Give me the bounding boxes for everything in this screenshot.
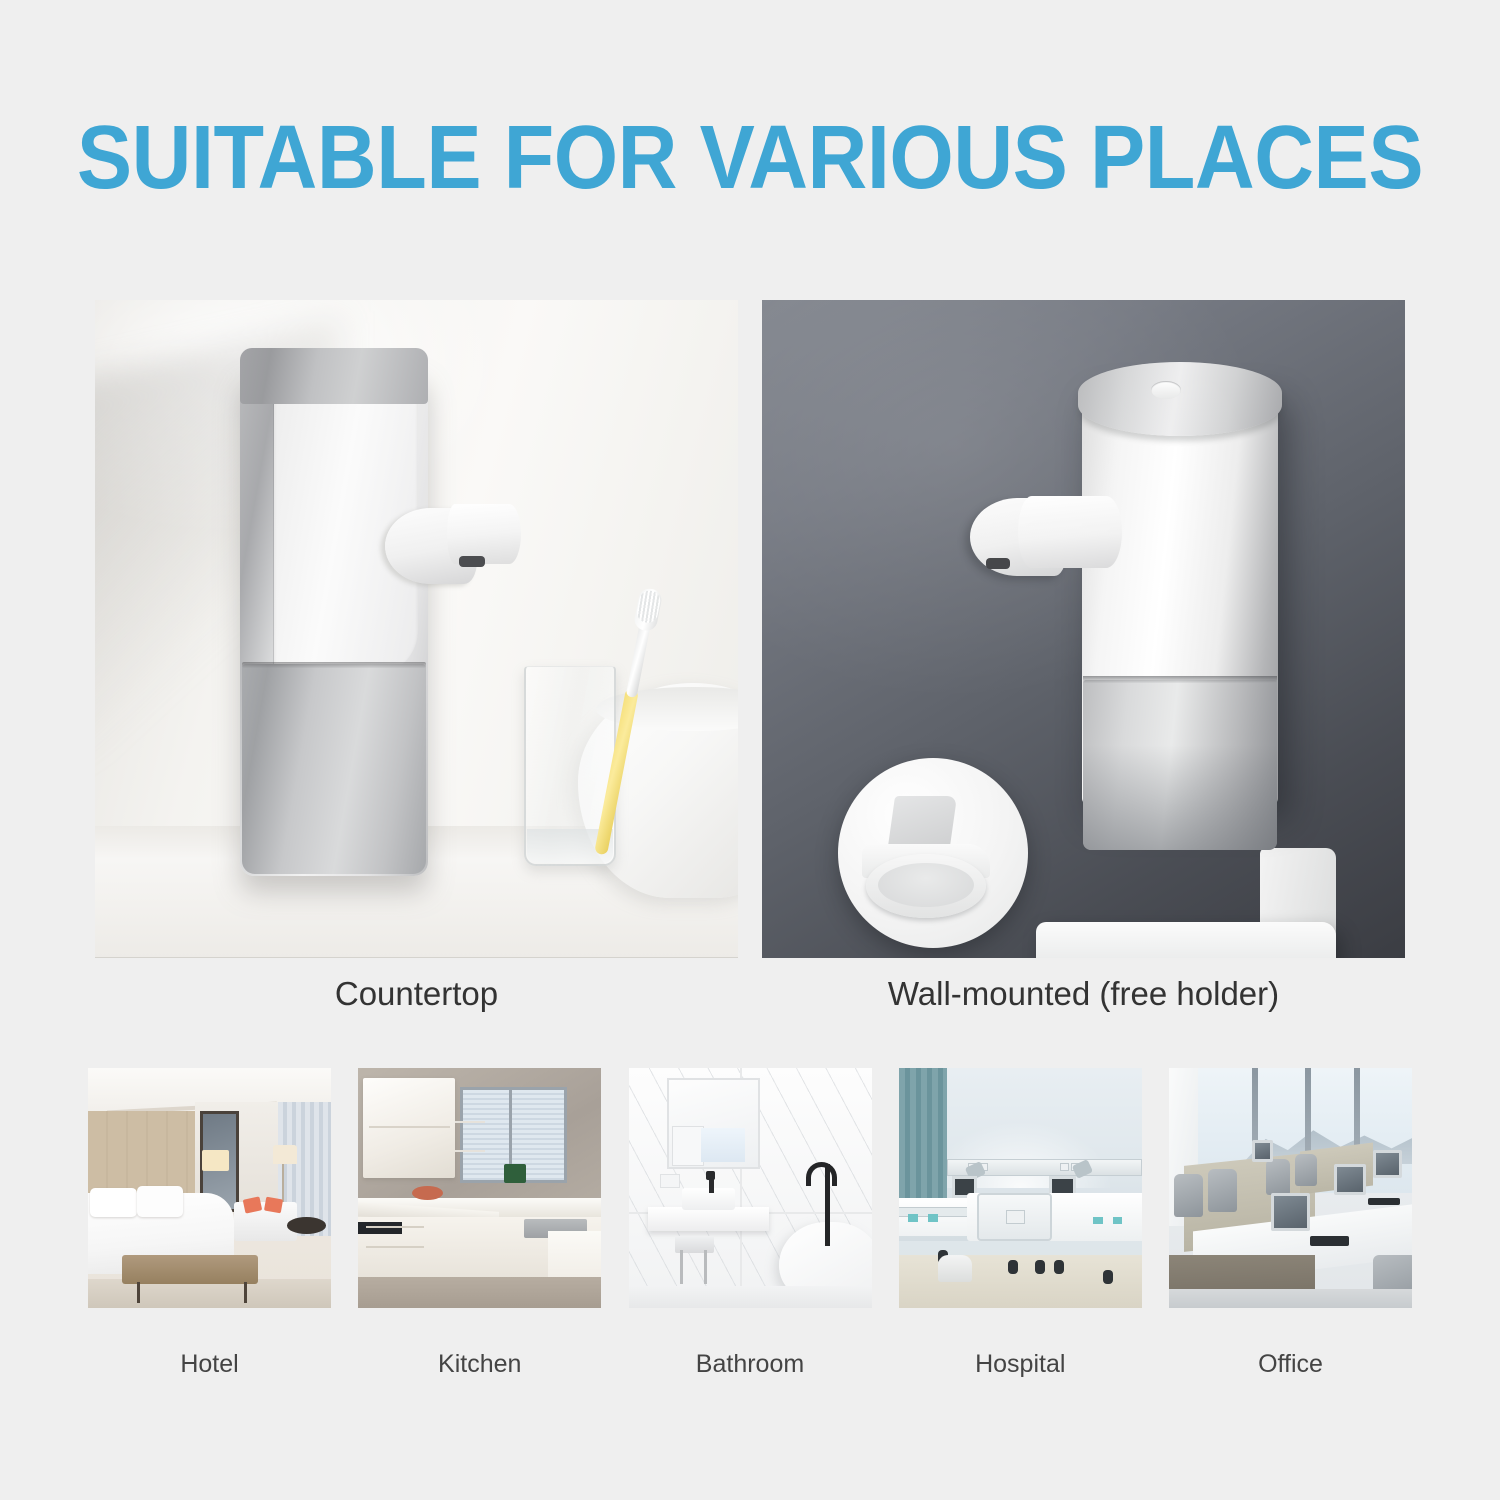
bed-rail-grip <box>1093 1217 1103 1224</box>
bed-caster-wheel <box>1054 1260 1064 1274</box>
fruit-bowl <box>412 1186 444 1200</box>
places-thumbnail-row <box>88 1068 1412 1308</box>
hero-image-wall-mounted <box>762 300 1405 958</box>
places-label-row: Hotel Kitchen Bathroom Hospital Office <box>88 1350 1412 1379</box>
nozzle-tip <box>447 504 521 564</box>
floating-vanity <box>648 1207 770 1231</box>
dispenser-cap <box>240 348 428 404</box>
holder-tray <box>1036 922 1336 958</box>
soap-dispenser-wall <box>1082 362 1278 882</box>
dispenser-lid <box>1078 362 1282 436</box>
keyboard <box>1310 1236 1349 1246</box>
holder-backplate <box>1260 848 1336 948</box>
bench-leg <box>244 1282 247 1304</box>
mirror-reflection-door <box>672 1126 704 1167</box>
bed-rail-grip <box>928 1214 938 1221</box>
dispenser-tank <box>242 664 426 874</box>
floor <box>629 1286 872 1308</box>
hero-caption-row: Countertop Wall-mounted (free holder) <box>95 975 1405 1013</box>
hero-image-countertop <box>95 300 738 958</box>
plumbing-pipe <box>704 1250 707 1284</box>
upper-cabinets <box>363 1078 455 1179</box>
holder-ring-detail <box>866 854 986 918</box>
thumbnail-office <box>1169 1068 1412 1308</box>
product-feature-page: SUITABLE FOR VARIOUS PLACES <box>0 0 1500 1500</box>
computer-monitor <box>1334 1164 1366 1195</box>
footboard-control-panel <box>1006 1210 1025 1224</box>
open-shelf <box>455 1150 484 1152</box>
dispenser-nozzle <box>385 504 533 590</box>
wall-outlet <box>660 1174 679 1188</box>
keyboard <box>1368 1198 1400 1205</box>
office-chair <box>1295 1154 1317 1185</box>
infrared-sensor-icon <box>459 556 485 567</box>
label-hospital: Hospital <box>899 1350 1142 1379</box>
medical-equipment <box>938 1255 972 1281</box>
drawer-line <box>366 1226 424 1228</box>
mirror-reflection-window <box>701 1128 745 1162</box>
holder-wall-detail <box>862 844 990 878</box>
dispenser-tank-seam <box>1083 676 1277 683</box>
label-office: Office <box>1169 1350 1412 1379</box>
side-table <box>287 1217 326 1234</box>
hero-caption-wall-mounted: Wall-mounted (free holder) <box>762 975 1405 1013</box>
dispenser-tank-seam <box>242 662 426 668</box>
thumbnail-bathroom <box>629 1068 872 1308</box>
pillow <box>137 1186 183 1217</box>
privacy-curtain <box>899 1068 948 1217</box>
computer-monitor <box>1252 1140 1274 1162</box>
wall-holder-bracket <box>1036 856 1336 958</box>
dispenser-body <box>1082 386 1278 806</box>
power-button-icon <box>1151 381 1181 399</box>
bed-caster-wheel <box>1103 1270 1113 1284</box>
label-hotel: Hotel <box>88 1350 331 1379</box>
bed-rail-grip <box>1113 1217 1123 1224</box>
holder-closeup-inset <box>838 758 1028 948</box>
office-chair <box>1208 1169 1237 1212</box>
bed-caster-wheel <box>1008 1260 1018 1274</box>
computer-monitor <box>1373 1150 1402 1179</box>
pillow <box>90 1188 136 1217</box>
thumbnail-hospital <box>899 1068 1142 1308</box>
floor <box>1169 1289 1412 1308</box>
sink-faucet-head <box>706 1171 715 1180</box>
floor <box>358 1277 601 1308</box>
nozzle-cone <box>970 498 1066 576</box>
floor-lamp-shade <box>273 1145 297 1164</box>
drawer-line <box>366 1246 424 1248</box>
office-chair <box>1174 1174 1203 1217</box>
office-chair <box>1266 1159 1290 1195</box>
open-shelf <box>455 1121 484 1123</box>
cushion <box>264 1196 283 1213</box>
wall-lamp <box>202 1150 229 1172</box>
holder-backplate-detail <box>885 796 957 868</box>
bed-caster-wheel <box>1035 1260 1045 1274</box>
plumbing-pipe <box>680 1250 683 1284</box>
dispenser-nozzle <box>970 496 1130 588</box>
potted-plant <box>504 1164 526 1183</box>
hero-image-row <box>95 300 1405 958</box>
hero-caption-countertop: Countertop <box>95 975 738 1013</box>
nozzle-tip <box>1018 496 1122 568</box>
bed-rail-grip <box>908 1214 918 1221</box>
bed-bench <box>122 1255 258 1284</box>
computer-monitor <box>1271 1193 1310 1231</box>
thumbnail-kitchen <box>358 1068 601 1308</box>
thumbnail-hotel <box>88 1068 331 1308</box>
soap-dispenser-countertop <box>240 366 428 876</box>
page-title: SUITABLE FOR VARIOUS PLACES <box>60 108 1440 208</box>
label-kitchen: Kitchen <box>358 1350 601 1379</box>
infrared-sensor-icon <box>986 558 1010 569</box>
label-bathroom: Bathroom <box>629 1350 872 1379</box>
dispenser-tank <box>1083 680 1277 850</box>
bench-leg <box>137 1282 140 1304</box>
panel-switch <box>1060 1163 1069 1171</box>
